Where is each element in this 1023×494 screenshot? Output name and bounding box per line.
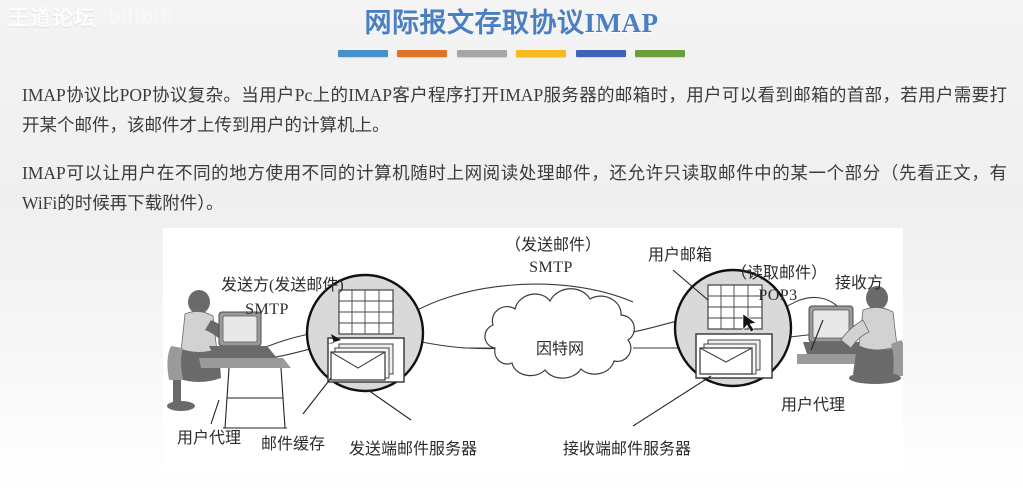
internet-cloud: 因特网 [485,289,634,378]
label-receiver-mail-server: 接收端邮件服务器 [563,440,691,458]
paragraph-imap-flexibility: IMAP可以让用户在不同的地方使用不同的计算机随时上网阅读处理邮件，还允许只读取… [22,158,1007,218]
title-bar-orange [397,50,447,57]
label-user-agent-left: 用户代理 [177,429,241,447]
title-decoration-bars [338,50,686,57]
internet-label: 因特网 [536,340,584,358]
paragraph-imap-complexity: IMAP协议比POP协议复杂。当用户Pc上的IMAP客户程序打开IMAP服务器的… [22,80,1007,140]
label-send-mail-paren: （发送邮件） [505,236,601,254]
label-sender-protocol: SMTP [245,301,289,318]
leader-receiver-server [633,376,711,426]
page-title: 网际报文存取协议IMAP [0,2,1023,44]
receiver-envelope-icon [696,334,772,378]
leader-user-agent-left [211,400,219,424]
receiver-user-figure [797,286,903,384]
label-user-agent-right: 用户代理 [781,396,845,414]
label-sender-role: 发送方(发送邮件) [221,276,344,294]
title-block: 网际报文存取协议IMAP [0,2,1023,57]
body-text-block: IMAP协议比POP协议复杂。当用户Pc上的IMAP客户程序打开IMAP服务器的… [22,80,1007,232]
label-sender-mail-server: 发送端邮件服务器 [349,440,477,458]
leader-sender-server [368,390,411,420]
title-bar-blue [338,50,388,57]
label-send-mail-protocol: SMTP [529,259,573,276]
title-bar-gray [457,50,507,57]
leader-mail-cache [303,378,331,414]
title-bar-amber [516,50,566,57]
title-bar-green [635,50,685,57]
mailbox-grid-icon [339,290,393,334]
label-mail-cache: 邮件缓存 [261,435,325,453]
label-receiver-role: 接收方 [835,274,883,292]
label-user-mailbox: 用户邮箱 [648,246,712,264]
title-bar-navy [576,50,626,57]
email-protocol-diagram: 因特网 [163,228,903,476]
label-read-mail-paren: （读取邮件） [731,264,827,282]
slide-canvas: 王道论坛 bilibili 网际报文存取协议IMAP IMAP协议比POP协议复… [0,0,1023,494]
mail-cache-envelope-icon [328,338,404,382]
label-read-mail-protocol: POP3 [758,287,797,304]
